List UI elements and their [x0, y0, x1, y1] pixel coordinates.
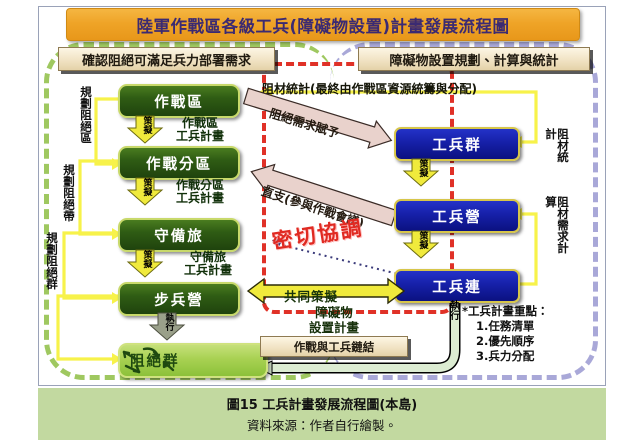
diagram-root: 陸軍作戰區各級工兵(障礙物設置)計畫發展流程圖 確認阻絕可滿足兵力部署需求 障礙…	[0, 0, 640, 444]
figure-caption: 圖15 工兵計畫發展流程圖(本島) 資料來源：作者自行繪製。	[38, 388, 606, 440]
joint-planning-arrow	[0, 0, 640, 444]
key-points-list: *工兵計畫重點： 1.任務清單 2.優先順序 3.兵力分配	[462, 304, 549, 364]
key-point-item: 2.優先順序	[476, 334, 549, 349]
key-point-item: 3.兵力分配	[476, 349, 549, 364]
key-points-heading: *工兵計畫重點：	[462, 304, 549, 319]
figure-caption-line2: 資料來源：作者自行繪製。	[247, 415, 397, 434]
label-joint-planning: 共同策擬	[284, 286, 338, 305]
plaque-ops-engineer-link: 作戰與工兵鏈結	[260, 336, 408, 357]
label-execute: 執行	[449, 302, 461, 322]
figure-caption-line1: 圖15 工兵計畫發展流程圖(本島)	[227, 394, 418, 413]
plaque-ops-engineer-link-text: 作戰與工兵鏈結	[294, 339, 375, 355]
label-obstacle-plan: 障礙物 設置計畫	[268, 305, 400, 335]
key-point-item: 1.任務清單	[476, 319, 549, 334]
